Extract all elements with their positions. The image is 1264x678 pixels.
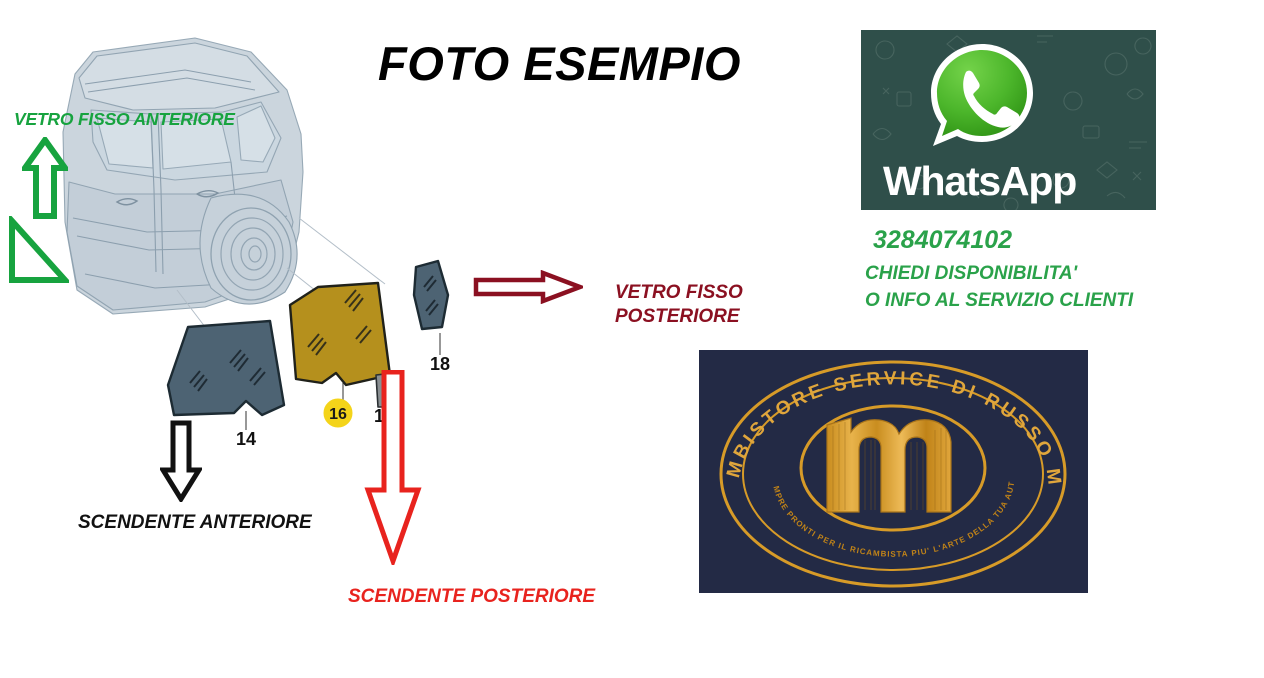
- shop-logo: MRICAMBISTORE SERVICE DI RUSSO MARCO SEM…: [699, 350, 1088, 593]
- phone-number[interactable]: 3284074102: [873, 226, 1012, 255]
- shop-logo-monogram: [827, 418, 951, 512]
- triangle-shape-icon: [7, 216, 69, 286]
- part-number-14: 14: [236, 429, 256, 449]
- arrow-up-icon: [22, 137, 68, 219]
- contact-line-1: CHIEDI DISPONIBILITA': [865, 263, 1077, 285]
- whatsapp-wordmark: WhatsApp: [883, 158, 1076, 205]
- svg-text:16: 16: [329, 406, 347, 423]
- part-number-18: 18: [430, 354, 450, 374]
- part-callout-16: 16: [324, 399, 352, 427]
- shop-logo-svg: MRICAMBISTORE SERVICE DI RUSSO MARCO SEM…: [699, 350, 1088, 593]
- arrow-down-long-icon: [362, 370, 424, 565]
- label-rear-drop-glass: SCENDENTE POSTERIORE: [348, 586, 595, 608]
- part-18-shape: [414, 261, 448, 329]
- part-14-shape: [168, 321, 284, 415]
- label-rear-fixed-glass-line1: VETRO FISSO: [615, 281, 743, 305]
- contact-line-2: O INFO AL SERVIZIO CLIENTI: [865, 290, 1133, 312]
- page-title: FOTO ESEMPIO: [378, 36, 741, 91]
- exploded-parts-diagram: 16 14 17 18: [150, 255, 480, 445]
- label-front-drop-glass: SCENDENTE ANTERIORE: [78, 512, 312, 534]
- label-rear-fixed-glass-line2: POSTERIORE: [615, 305, 743, 329]
- whatsapp-banner: WhatsApp: [861, 30, 1156, 210]
- whatsapp-phone-icon: [921, 40, 1043, 158]
- arrow-right-icon: [473, 270, 583, 304]
- label-rear-fixed-glass: VETRO FISSO POSTERIORE: [615, 281, 743, 329]
- arrow-down-icon: [160, 420, 202, 502]
- label-front-fixed-glass: VETRO FISSO ANTERIORE: [14, 109, 235, 130]
